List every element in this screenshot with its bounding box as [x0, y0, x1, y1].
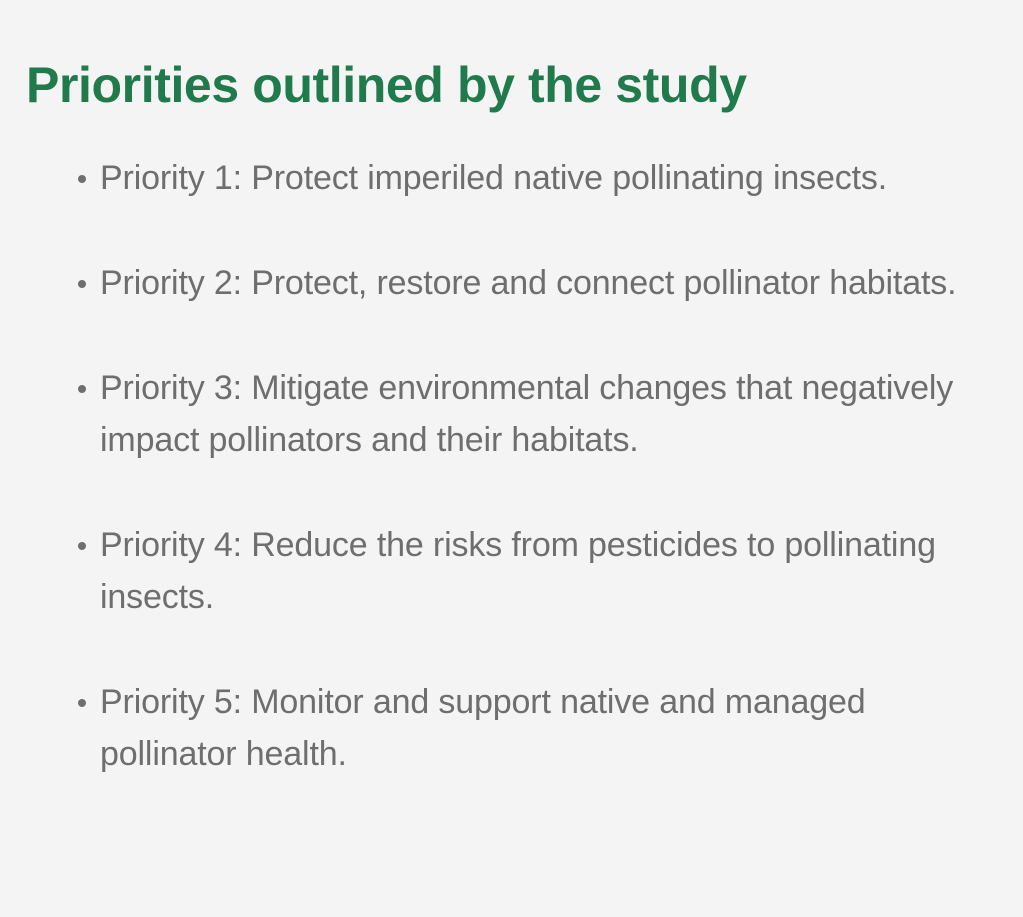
list-item: Priority 3: Mitigate environmental chang… — [72, 362, 1002, 466]
priority-item-label: Priority 1: Protect imperiled native pol… — [100, 152, 1002, 204]
list-item: Priority 5: Monitor and support native a… — [72, 676, 1002, 780]
bullet-dot-icon — [78, 542, 86, 550]
bullet-dot-icon — [78, 385, 86, 393]
bullet-dot-icon — [78, 175, 86, 183]
priorities-card: Priorities outlined by the study Priorit… — [0, 0, 1023, 917]
list-item: Priority 4: Reduce the risks from pestic… — [72, 519, 1002, 623]
page-title: Priorities outlined by the study — [26, 56, 747, 114]
bullet-dot-icon — [78, 280, 86, 288]
priority-list: Priority 1: Protect imperiled native pol… — [72, 152, 1002, 780]
priority-item-label: Priority 2: Protect, restore and connect… — [100, 257, 1002, 309]
list-item: Priority 1: Protect imperiled native pol… — [72, 152, 1002, 204]
priority-item-label: Priority 3: Mitigate environmental chang… — [100, 362, 1002, 466]
list-item: Priority 2: Protect, restore and connect… — [72, 257, 1002, 309]
priority-item-label: Priority 5: Monitor and support native a… — [100, 676, 1002, 780]
priority-item-label: Priority 4: Reduce the risks from pestic… — [100, 519, 1002, 623]
bullet-dot-icon — [78, 699, 86, 707]
